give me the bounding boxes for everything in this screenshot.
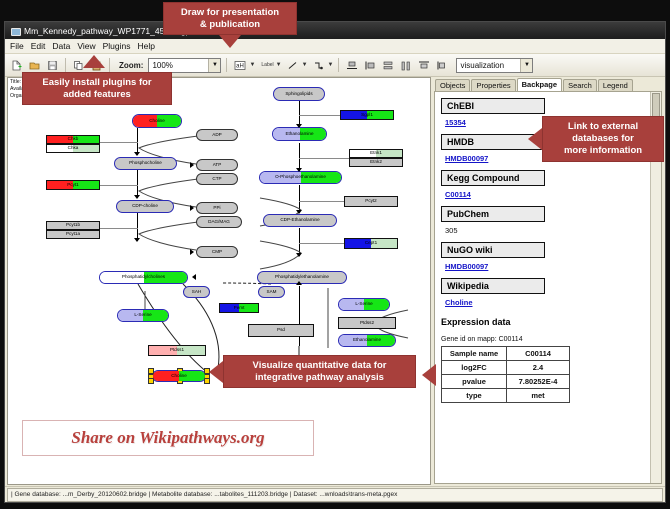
screenshot-root: Mm_Kennedy_pathway_WP1771_45176.gpml Fil…	[0, 0, 670, 509]
node-ctp[interactable]: CTP	[196, 173, 238, 185]
new-file-icon[interactable]	[9, 58, 24, 73]
node-phosphocholine[interactable]: Phosphocholine	[114, 157, 177, 170]
arrowhead-icon	[296, 281, 302, 285]
menu-item-view[interactable]: View	[77, 41, 95, 51]
node-label: Ptdss2	[360, 321, 374, 326]
zoom-combo[interactable]: 100% ▼	[148, 58, 221, 73]
node-label: CDP-Ethanolamine	[280, 218, 319, 223]
selection-box[interactable]: Choline	[148, 368, 210, 384]
node-label: Etnk1	[370, 151, 382, 156]
open-folder-icon[interactable]	[27, 58, 42, 73]
save-icon[interactable]	[45, 58, 60, 73]
arrowhead-icon	[134, 195, 140, 199]
status-text: | Gene database: ...m_Derby_20120602.bri…	[7, 488, 663, 502]
connector-tool-icon[interactable]	[311, 58, 326, 73]
visualization-combo[interactable]: visualization ▼	[456, 58, 533, 73]
align-left-icon[interactable]	[362, 58, 377, 73]
expression-data-heading: Expression data	[441, 317, 649, 327]
table-cell-key: pvalue	[442, 375, 507, 389]
callout-line: Visualize quantitative data for	[232, 360, 407, 372]
node-label: Choline	[149, 119, 165, 124]
node-label: Chkb	[68, 137, 79, 142]
db-header-pubchem: PubChem	[441, 206, 545, 222]
db-value-pubchem: 305	[445, 226, 649, 235]
node-sam[interactable]: SAM	[258, 286, 285, 298]
distribute-horizontal-icon[interactable]	[398, 58, 413, 73]
callout-line: databases for	[551, 133, 655, 145]
table-cell-value: 7.80252E-4	[507, 375, 570, 389]
label-tool-label[interactable]: Label	[261, 62, 273, 68]
line-tool-icon[interactable]	[285, 58, 300, 73]
node-dagmag[interactable]: DAG/MAG	[196, 216, 242, 228]
db-header-nugo: NuGO wiki	[441, 242, 545, 258]
node-ethanolamine-bottom[interactable]: Ethanolamine	[338, 334, 396, 347]
node-atp[interactable]: ATP	[196, 159, 238, 171]
share-text: Share on Wikipathways.org	[71, 428, 264, 448]
arrowhead-icon	[296, 168, 302, 172]
gene-chka[interactable]: Chka	[46, 144, 100, 153]
table-row: log2FC 2.4	[442, 361, 570, 375]
tab-search[interactable]: Search	[563, 79, 597, 91]
node-label: DAG/MAG	[208, 220, 230, 225]
db-header-kegg: Kegg Compound	[441, 170, 545, 186]
table-row: type met	[442, 389, 570, 403]
callout-share: Share on Wikipathways.org	[22, 420, 314, 456]
align-bottom-icon[interactable]	[344, 58, 359, 73]
toolbar-separator	[338, 58, 339, 72]
align-center-icon[interactable]	[416, 58, 431, 73]
callout-pointer-left-icon	[209, 361, 223, 383]
menu-item-plugins[interactable]: Plugins	[103, 41, 131, 51]
table-cell-value: C00114	[507, 347, 570, 361]
callout-line: Link to external	[551, 121, 655, 133]
node-label: Phosphocholine	[129, 161, 162, 166]
menu-item-help[interactable]: Help	[138, 41, 155, 51]
node-label: Ethanolamine	[285, 132, 313, 137]
gene-cept1[interactable]: Cept1	[344, 238, 398, 249]
table-cell-key: log2FC	[442, 361, 507, 375]
arrowhead-icon	[190, 205, 194, 211]
tab-objects[interactable]: Objects	[435, 79, 470, 91]
node-label: Pcyt1	[67, 183, 79, 188]
side-tabs: Objects Properties Backpage Search Legen…	[433, 77, 663, 91]
db-link-nugo[interactable]: HMDB00097	[445, 262, 649, 271]
gene-etnk2[interactable]: Etnk2	[349, 158, 403, 167]
node-label: SAM	[267, 290, 277, 295]
node-label: CDP-choline	[132, 204, 158, 209]
gene-id-on-mapp: Gene id on mapp: C00114	[441, 336, 649, 343]
app-icon	[10, 26, 20, 36]
node-label: Etnk2	[370, 160, 382, 165]
db-link-kegg[interactable]: C00114	[445, 190, 649, 199]
callout-line: more information	[551, 145, 655, 157]
node-label: ADP	[212, 133, 221, 138]
menu-item-data[interactable]: Data	[52, 41, 70, 51]
chevron-down-icon[interactable]: ▼	[302, 62, 308, 68]
node-l-serine-left[interactable]: L-Serine	[117, 309, 169, 322]
callout-pointer-left-icon	[528, 128, 542, 150]
table-cell-key: type	[442, 389, 507, 403]
node-label: Sgpl1	[361, 113, 373, 118]
gene-chkb[interactable]: Chkb	[46, 135, 100, 144]
title-bar: Mm_Kennedy_pathway_WP1771_45176.gpml	[5, 22, 665, 39]
node-label: L-Serine	[355, 302, 372, 307]
node-label: Choline	[171, 374, 187, 379]
node-o-phosphoethanolamine[interactable]: O-Phosphoethanolamine	[259, 171, 342, 184]
node-ethanolamine[interactable]: Ethanolamine	[272, 127, 327, 141]
node-sah[interactable]: SAH	[183, 286, 210, 298]
callout-line: & publication	[172, 19, 288, 31]
tab-properties[interactable]: Properties	[471, 79, 515, 91]
zoom-label: Zoom:	[119, 61, 143, 70]
svg-text:aH: aH	[236, 63, 244, 69]
gene-ptdss1[interactable]: Ptdss1	[148, 345, 206, 356]
callout-line: Easily install plugins for	[31, 77, 163, 89]
node-ppi[interactable]: PPi	[196, 202, 238, 214]
node-sphingolipids[interactable]: Sphingolipids	[273, 87, 325, 101]
menu-item-file[interactable]: File	[10, 41, 24, 51]
node-label: Pcyt1a	[66, 232, 80, 237]
callout-line: Draw for presentation	[172, 7, 288, 19]
arrowhead-icon	[190, 162, 194, 168]
chevron-down-icon[interactable]: ▼	[249, 62, 255, 68]
node-label: Pcyt2	[365, 199, 377, 204]
node-label: Pcyt1b	[66, 223, 80, 228]
gene-pemt[interactable]: Pemt	[219, 303, 259, 313]
arrowhead-icon	[296, 124, 302, 128]
node-adp[interactable]: ADP	[196, 129, 238, 141]
arrowhead-icon	[134, 238, 140, 242]
menu-item-edit[interactable]: Edit	[31, 41, 46, 51]
gene-pcyt1b[interactable]: Pcyt1b	[46, 221, 100, 230]
node-label: SAH	[192, 290, 201, 295]
db-link-wikipedia[interactable]: Choline	[445, 298, 649, 307]
table-cell-value: met	[507, 389, 570, 403]
node-choline-selected[interactable]: Choline	[152, 370, 206, 382]
chevron-down-icon[interactable]: ▼	[208, 59, 220, 72]
arrowhead-icon	[296, 210, 302, 214]
toolbar-separator	[109, 58, 110, 72]
tab-legend[interactable]: Legend	[598, 79, 633, 91]
node-cdp-ethanolamine[interactable]: CDP-Ethanolamine	[263, 214, 337, 227]
node-cdp-choline[interactable]: CDP-choline	[116, 200, 174, 213]
node-label: Sphingolipids	[285, 92, 312, 97]
callout-links: Link to external databases for more info…	[542, 116, 664, 162]
node-label: Psd	[277, 328, 285, 333]
callout-line: integrative pathway analysis	[232, 372, 407, 384]
text-label-icon[interactable]: aH	[232, 58, 247, 73]
toolbar-separator	[65, 58, 66, 72]
arrowhead-icon	[190, 249, 194, 255]
callout-plugins: Easily install plugins for added feature…	[22, 72, 172, 105]
callout-pointer-down-icon	[219, 35, 241, 48]
node-label: Ptdss1	[170, 348, 184, 353]
chevron-down-icon[interactable]: ▼	[328, 62, 334, 68]
chevron-down-icon[interactable]: ▼	[520, 59, 532, 72]
gene-sgpl1[interactable]: Sgpl1	[340, 110, 394, 120]
tab-backpage[interactable]: Backpage	[517, 78, 562, 91]
db-header-chebi: ChEBI	[441, 98, 545, 114]
arrowhead-icon	[134, 152, 140, 156]
toolbar-separator	[226, 58, 227, 72]
node-label: Cept1	[365, 241, 377, 246]
status-bar: | Gene database: ...m_Derby_20120602.bri…	[5, 486, 665, 502]
visualization-value: visualization	[460, 61, 504, 70]
table-row: pvalue 7.80252E-4	[442, 375, 570, 389]
table-cell-key: Sample name	[442, 347, 507, 361]
node-label: Phosphatidylcholines	[122, 275, 165, 280]
callout-visualize: Visualize quantitative data for integrat…	[223, 355, 416, 388]
node-label: Chka	[68, 146, 79, 151]
node-phosphatidylethanolamine[interactable]: Phosphatidylethanolamine	[257, 271, 347, 284]
node-label: CTP	[212, 177, 221, 182]
db-header-wikipedia: Wikipedia	[441, 278, 545, 294]
gene-pcyt2[interactable]: Pcyt2	[344, 196, 398, 207]
gene-psd[interactable]: Psd	[248, 324, 314, 337]
arrowhead-icon	[296, 253, 302, 257]
node-phosphatidylcholines[interactable]: Phosphatidylcholines	[99, 271, 188, 284]
gene-etnk1[interactable]: Etnk1	[349, 149, 403, 158]
node-l-serine-right[interactable]: L-Serine	[338, 298, 390, 311]
node-label: PPi	[213, 206, 220, 211]
callout-draw: Draw for presentation & publication	[163, 2, 297, 35]
table-row: Sample name C00114	[442, 347, 570, 361]
node-label: ATP	[213, 163, 222, 168]
gene-ptdss2[interactable]: Ptdss2	[338, 317, 396, 329]
distribute-vertical-icon[interactable]	[380, 58, 395, 73]
callout-pointer-up-icon	[83, 55, 105, 68]
table-cell-value: 2.4	[507, 361, 570, 375]
node-label: Pemt	[234, 306, 245, 311]
gene-pcyt1a[interactable]: Pcyt1a	[46, 230, 100, 239]
node-label: Ethanolamine	[353, 338, 381, 343]
menu-bar: File Edit Data View Plugins Help	[5, 39, 665, 54]
callout-line: added features	[31, 89, 163, 101]
node-cmp[interactable]: CMP	[196, 246, 238, 258]
node-label: CMP	[212, 250, 222, 255]
gene-pcyt1[interactable]: Pcyt1	[46, 180, 100, 190]
node-choline[interactable]: Choline	[132, 114, 182, 128]
zoom-value: 100%	[152, 61, 172, 70]
node-label: L-Serine	[134, 313, 151, 318]
chevron-down-icon[interactable]: ▼	[276, 62, 282, 68]
align-right-icon[interactable]	[434, 58, 449, 73]
node-label: Phosphatidylethanolamine	[275, 275, 329, 280]
callout-pointer-left-icon	[422, 364, 436, 386]
expression-table: Sample name C00114 log2FC 2.4 pvalue 7.8…	[441, 346, 570, 403]
node-label: O-Phosphoethanolamine	[275, 175, 326, 180]
arrowhead-icon	[192, 274, 196, 280]
